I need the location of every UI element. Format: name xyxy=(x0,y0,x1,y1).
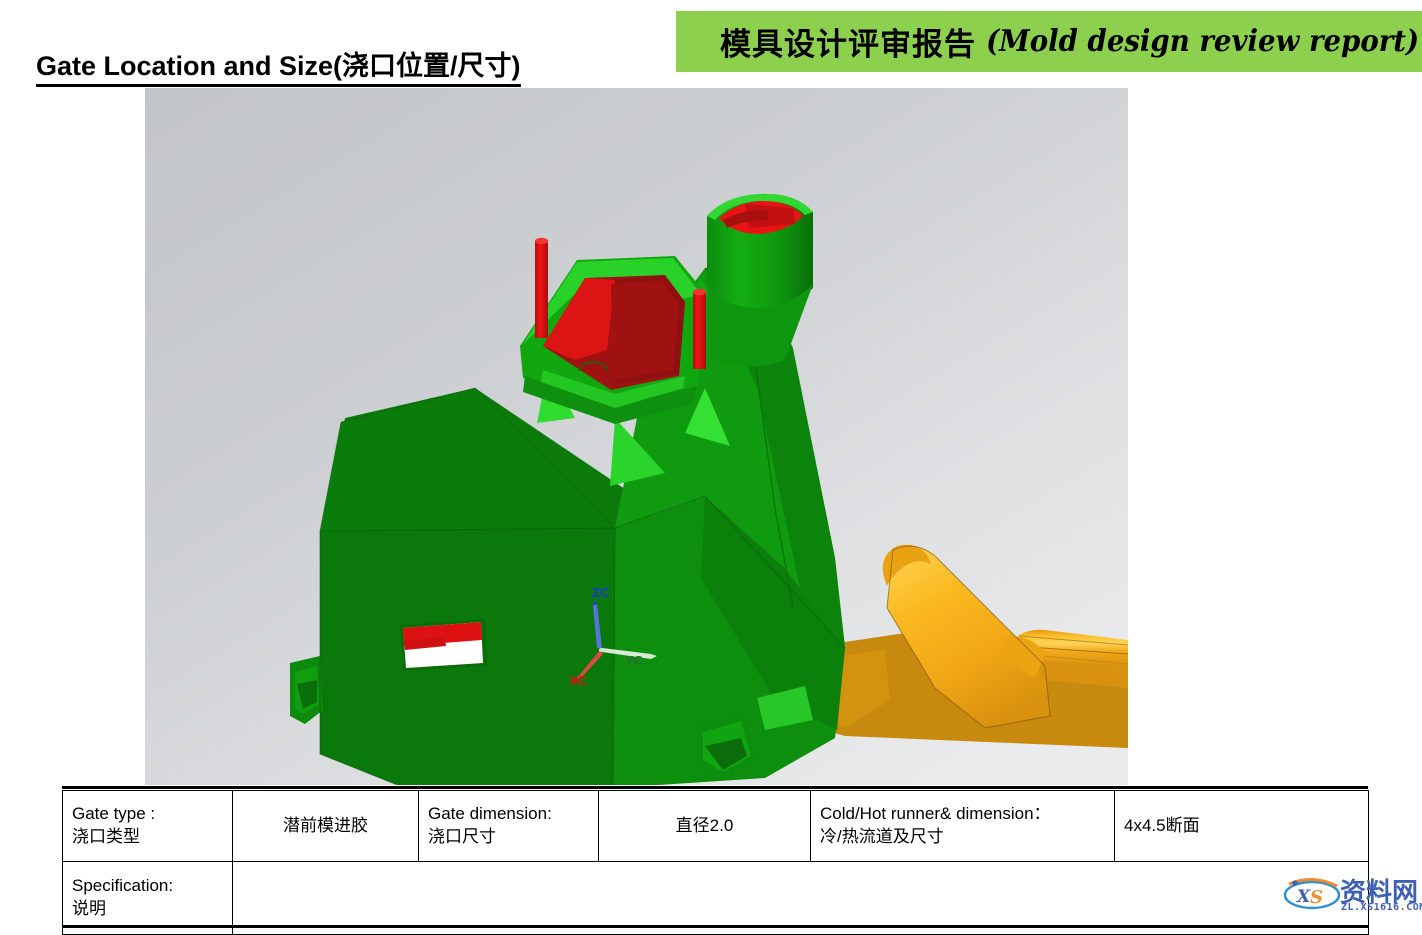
red-pin-left xyxy=(535,240,548,338)
gate-dimension-label-cn: 浇口尺寸 xyxy=(428,826,589,849)
header-title-cn: 模具设计评审报告 xyxy=(676,19,976,64)
runner-label-cn: 冷/热流道及尺寸 xyxy=(820,826,1105,849)
header-banner: 模具设计评审报告 (Mold design review report) xyxy=(676,11,1422,72)
cell-gate-dimension-label: Gate dimension: 浇口尺寸 xyxy=(419,791,599,862)
gate-type-label-en: Gate type : xyxy=(72,803,223,826)
cell-runner-label: Cold/Hot runner& dimension： 冷/热流道及尺寸 xyxy=(811,791,1115,862)
page-title: Gate Location and Size(浇口位置/尺寸) xyxy=(36,52,521,87)
table-row: Gate type : 浇口类型 潜前模进胶 Gate dimension: 浇… xyxy=(63,791,1369,862)
cell-specification-value[interactable] xyxy=(233,862,1369,935)
table-bottom-rule xyxy=(62,925,1368,928)
3d-model-canvas[interactable] xyxy=(145,88,1128,785)
cell-gate-dimension-value[interactable]: 直径2.0 xyxy=(599,791,811,862)
red-pin-right xyxy=(693,291,706,369)
cell-runner-value[interactable]: 4x4.5断面 xyxy=(1115,791,1369,862)
cell-gate-type-value[interactable]: 潜前模进胶 xyxy=(233,791,419,862)
cell-gate-type-label: Gate type : 浇口类型 xyxy=(63,791,233,862)
spec-table: Gate type : 浇口类型 潜前模进胶 Gate dimension: 浇… xyxy=(62,790,1369,935)
specification-label-en: Specification: xyxy=(72,875,223,898)
header-title-en: (Mold design review report) xyxy=(976,24,1419,59)
3d-model-viewport[interactable]: ZC YC XC xyxy=(145,88,1128,785)
table-row: Specification: 说明 xyxy=(63,862,1369,935)
gate-type-label-cn: 浇口类型 xyxy=(72,826,223,849)
table-top-rule xyxy=(62,786,1368,789)
gate-dimension-label-en: Gate dimension: xyxy=(428,803,589,826)
cell-specification-label: Specification: 说明 xyxy=(63,862,233,935)
specification-label-cn: 说明 xyxy=(72,898,223,921)
runner-label-en: Cold/Hot runner& dimension： xyxy=(820,803,1105,826)
